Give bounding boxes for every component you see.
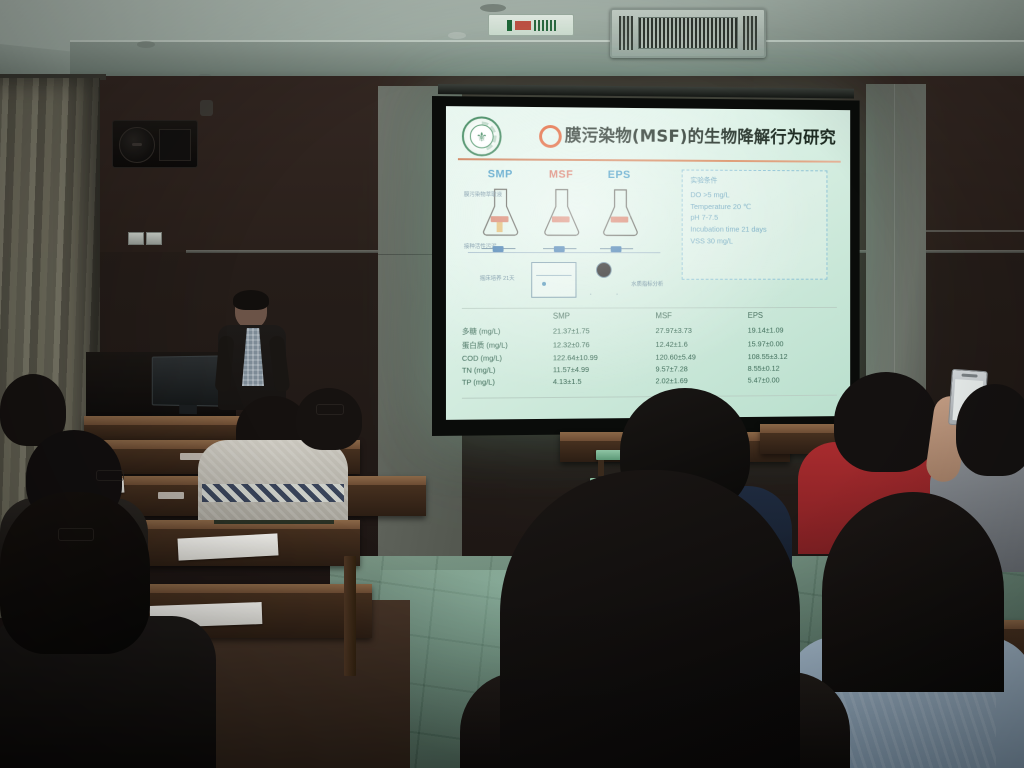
projected-slide: ⚜ 膜污染物(MSF)的生物降解行为研究 SMP MSF EPS — [446, 106, 850, 420]
cell-smp: 122.64±10.99 — [553, 351, 656, 364]
cell-msf: 2.02±1.69 — [656, 375, 748, 388]
ceiling-downlight — [448, 32, 466, 39]
ceiling-downlight — [137, 41, 155, 48]
cell-smp: 12.32±0.76 — [553, 337, 656, 352]
ceiling-camera-icon — [200, 100, 213, 116]
slide-title: 膜污染物(MSF)的生物降解行为研究 — [565, 121, 836, 148]
parameters-heading: 实验条件 — [690, 175, 818, 185]
ceiling-fixture — [480, 4, 506, 12]
desk-leg — [344, 556, 356, 676]
incubator-icon — [531, 262, 576, 298]
wall-seam — [926, 230, 1024, 232]
title-divider — [458, 158, 841, 163]
diagram-arrow-icon — [482, 246, 516, 253]
presenter — [218, 292, 286, 410]
row-label: COD (mg/L) — [462, 352, 553, 365]
cell-eps: 8.55±0.12 — [748, 362, 839, 375]
flask-label-smp: SMP — [488, 168, 513, 180]
analysis-person-icon — [590, 262, 615, 296]
cell-eps: 15.97±0.00 — [748, 336, 839, 350]
audience-body-patterned-sweater — [198, 440, 348, 520]
audience-head — [834, 372, 938, 472]
table-top-rule — [462, 307, 837, 309]
audience-head — [0, 492, 150, 654]
flask-label-eps: EPS — [608, 169, 631, 181]
cell-eps: 5.47±0.00 — [748, 374, 839, 387]
experiment-diagram: SMP MSF EPS 膜污染物萃取液 接种活性污泥 摇床培养 21天 — [464, 168, 668, 300]
column-header-smp: SMP — [553, 311, 656, 323]
glasses-icon — [96, 470, 124, 481]
flask-label-msf: MSF — [549, 169, 573, 181]
wall-loudspeaker-icon — [112, 120, 198, 168]
experiment-parameters-box: 实验条件 DO >5 mg/L Temperature 20 ℃ pH 7-7.… — [682, 170, 828, 280]
cell-smp: 21.37±1.75 — [553, 323, 656, 337]
cell-msf: 27.97±3.73 — [656, 323, 748, 337]
cell-msf: 12.42±1.6 — [656, 337, 748, 351]
column-header-msf: MSF — [656, 311, 748, 323]
column-header-eps: EPS — [748, 311, 839, 323]
diagram-note: 水质指标分析 — [631, 280, 663, 288]
column-header — [462, 312, 553, 324]
parameter-row: pH 7-7.5 — [690, 212, 818, 224]
slide-header: ⚜ 膜污染物(MSF)的生物降解行为研究 — [458, 114, 841, 159]
parameter-row: Temperature 20 ℃ — [690, 201, 818, 213]
ceiling-air-conditioner-vent-icon — [610, 8, 766, 58]
audience-head-foreground — [500, 470, 800, 768]
lecture-hall-photo: ⚜ 膜污染物(MSF)的生物降解行为研究 SMP MSF EPS — [0, 0, 1024, 768]
cell-eps: 108.55±3.12 — [748, 350, 839, 362]
cell-smp: 11.57±4.99 — [553, 363, 656, 376]
diagram-note: 膜污染物萃取液 — [464, 190, 502, 198]
row-label: 蛋白质 (mg/L) — [462, 338, 553, 353]
diagram-arrow-icon — [600, 246, 633, 253]
audience-head-foreground — [822, 492, 1004, 692]
table-row: TP (mg/L) 4.13±1.5 2.02±1.69 5.47±0.00 — [462, 374, 839, 389]
audience-head — [296, 388, 362, 450]
row-label: 多糖 (mg/L) — [462, 324, 553, 338]
flask-icon — [539, 187, 584, 237]
parameter-row: DO >5 mg/L — [690, 189, 818, 201]
results-table: SMP MSF EPS 多糖 (mg/L) 21.37±1.75 27.97±3… — [462, 311, 839, 389]
flask-icon — [598, 187, 643, 237]
parameter-row: Incubation time 21 days — [690, 224, 818, 236]
glasses-icon — [316, 404, 344, 415]
emergency-exit-sign-icon — [488, 14, 574, 36]
row-label: TN (mg/L) — [462, 364, 553, 377]
wall-light-switches[interactable] — [128, 232, 162, 245]
diagram-arrow-icon — [543, 246, 576, 253]
glasses-icon — [58, 528, 94, 541]
bullet-letter-c-icon — [539, 125, 562, 148]
audience-head — [956, 384, 1024, 476]
row-label: TP (mg/L) — [462, 376, 553, 389]
university-emblem-icon: ⚜ — [462, 116, 502, 156]
cell-msf: 9.57±7.28 — [656, 363, 748, 376]
parameter-row: VSS 30 mg/L — [690, 235, 818, 247]
cell-msf: 120.60±5.49 — [656, 351, 748, 364]
diagram-note: 摇床培养 21天 — [480, 274, 515, 282]
cell-smp: 4.13±1.5 — [553, 375, 656, 388]
cell-eps: 19.14±1.09 — [748, 323, 839, 337]
projection-screen: ⚜ 膜污染物(MSF)的生物降解行为研究 SMP MSF EPS — [432, 96, 860, 436]
